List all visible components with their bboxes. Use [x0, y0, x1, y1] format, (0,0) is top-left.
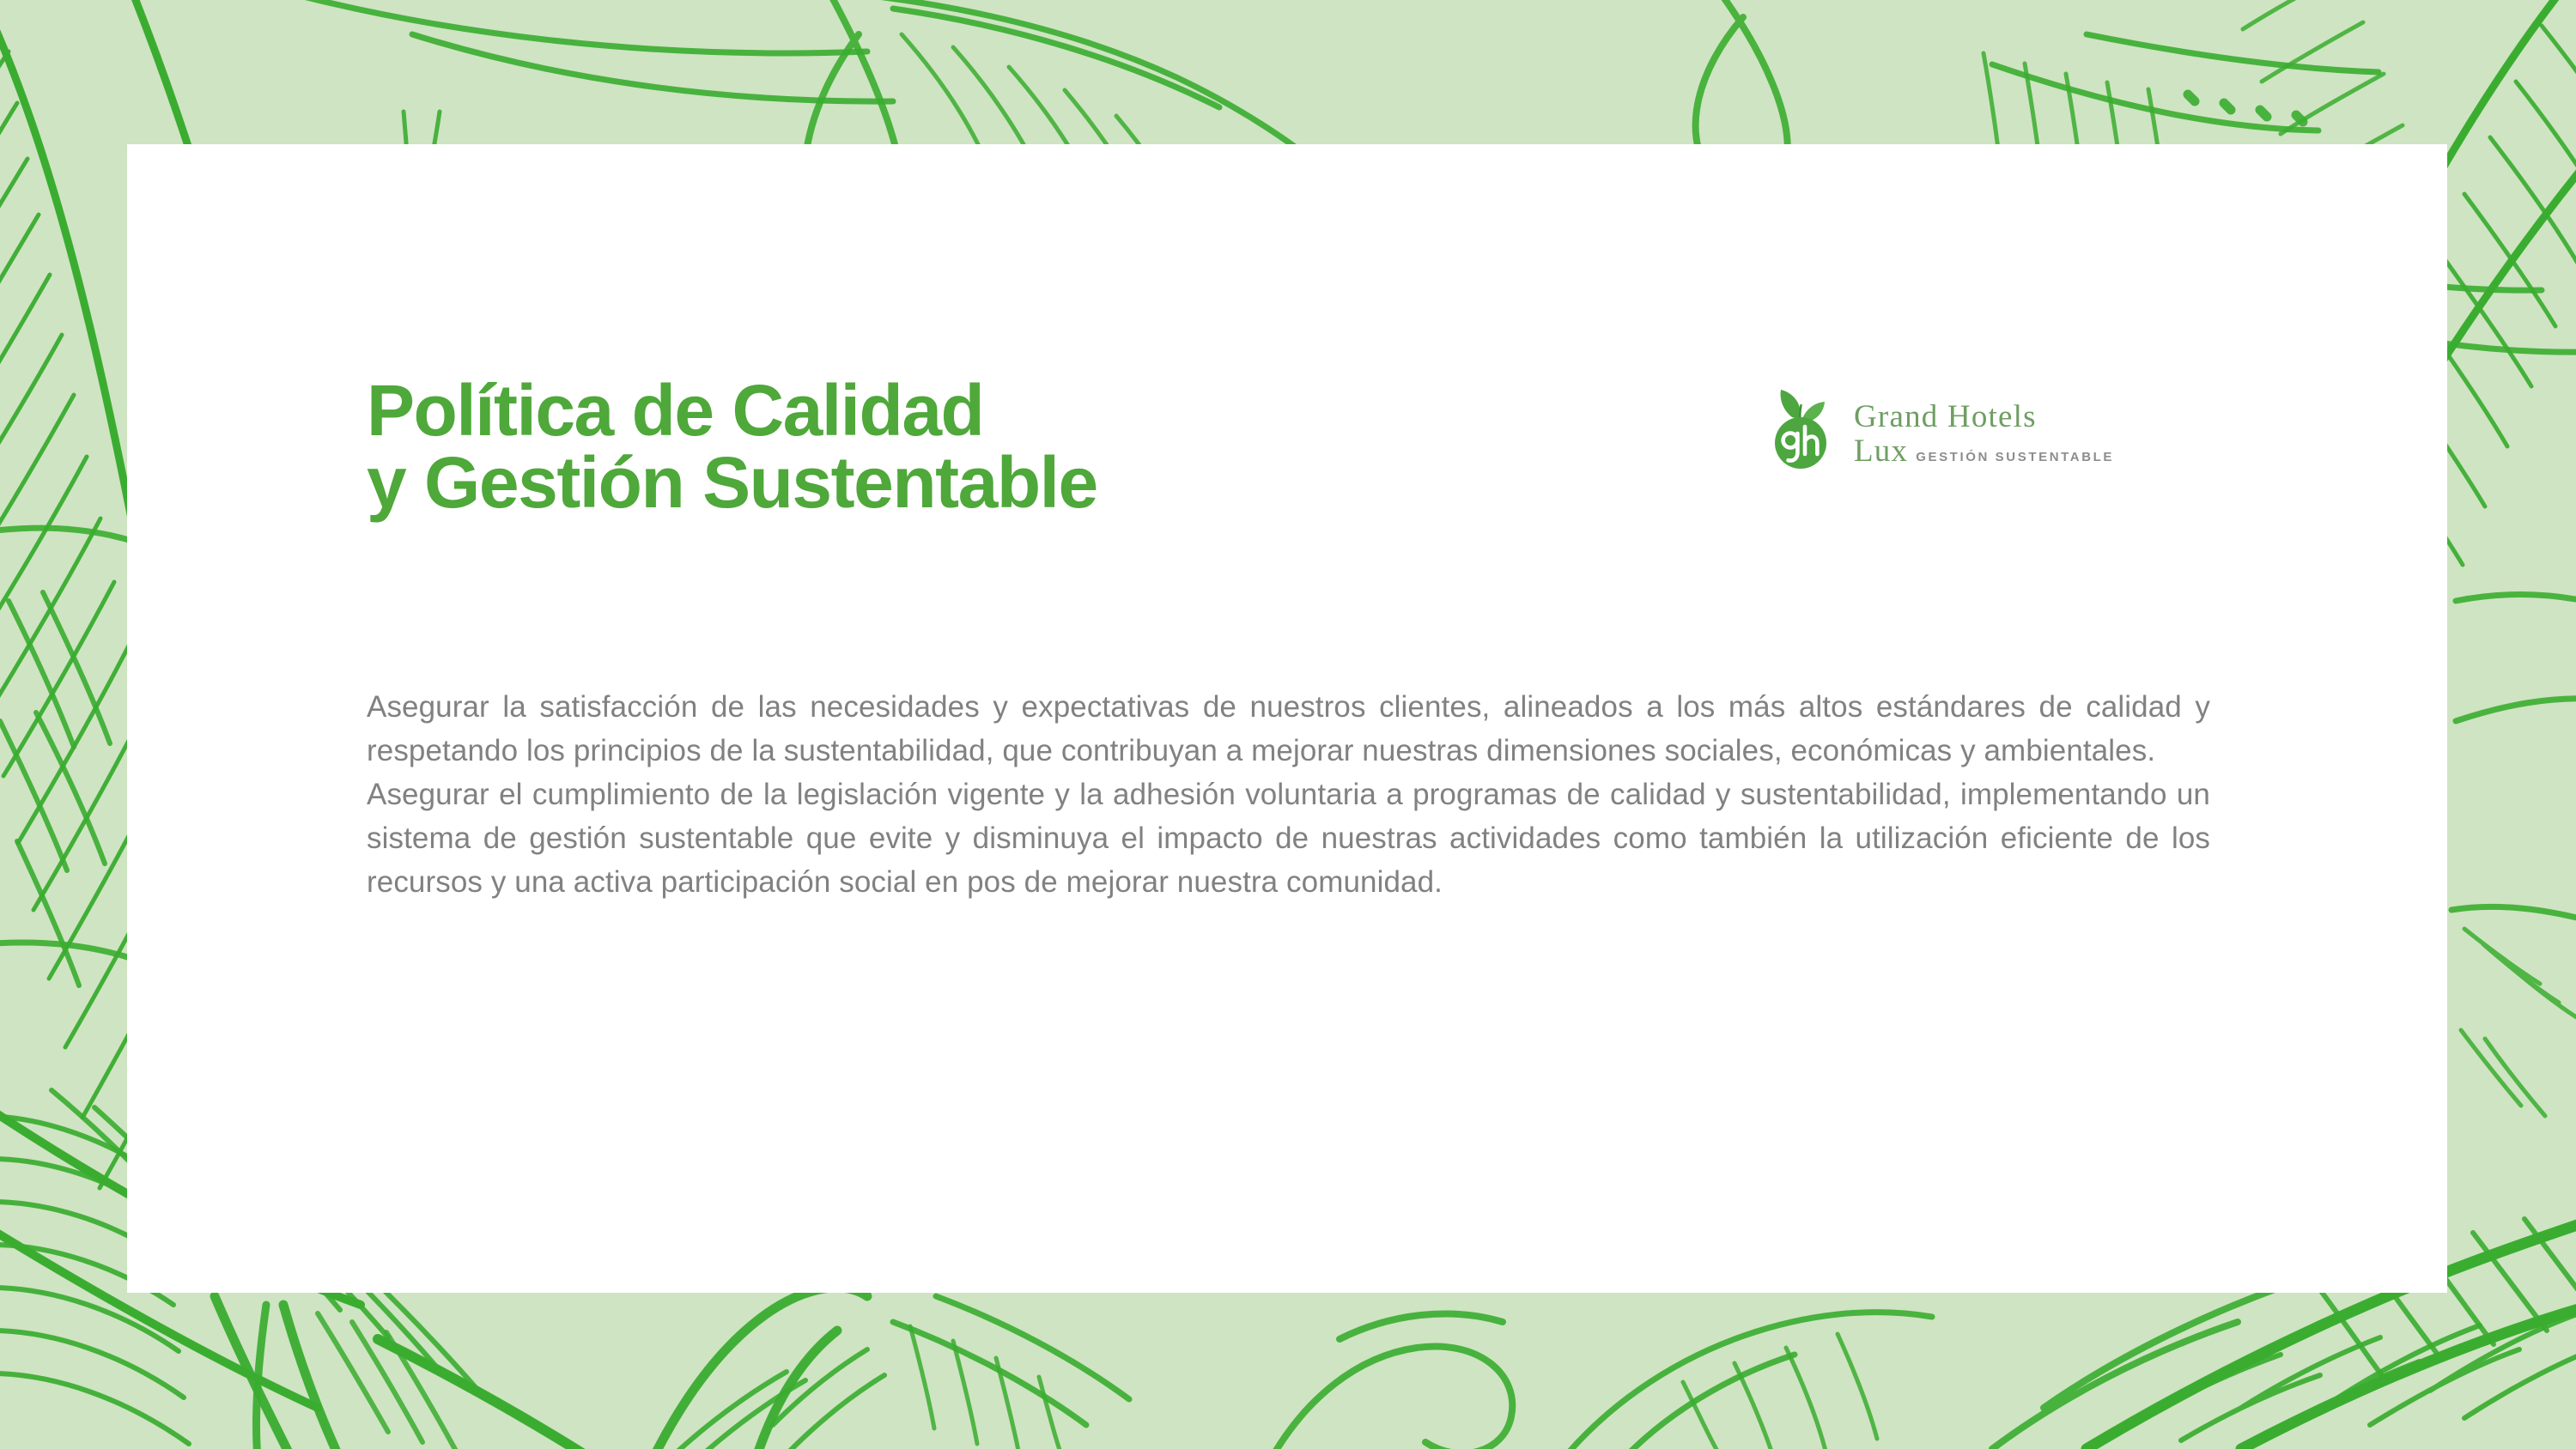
policy-body-text: Asegurar la satisfacción de las necesida… — [367, 685, 2210, 904]
page-title: Política de Calidad y Gestión Sustentabl… — [367, 374, 1097, 518]
brand-logo: Grand Hotels Lux GESTIÓN SUSTENTABLE — [1763, 380, 2106, 475]
slide-header: Política de Calidad y Gestión Sustentabl… — [127, 144, 2447, 505]
policy-paragraph: Asegurar el cumplimiento de la legislaci… — [367, 773, 2210, 904]
slide-canvas: Política de Calidad y Gestión Sustentabl… — [0, 0, 2576, 1449]
brand-tagline: GESTIÓN SUSTENTABLE — [1916, 450, 2114, 464]
brand-wordmark: Grand Hotels Lux GESTIÓN SUSTENTABLE — [1854, 389, 2114, 467]
brand-lux: Lux — [1854, 435, 1908, 467]
brand-name: Grand Hotels — [1854, 401, 2114, 433]
gh-leaf-circle-logo-icon — [1763, 385, 1842, 470]
brand-sub-row: Lux GESTIÓN SUSTENTABLE — [1854, 435, 2114, 467]
policy-paragraph: Asegurar la satisfacción de las necesida… — [367, 685, 2210, 773]
content-card: Política de Calidad y Gestión Sustentabl… — [127, 144, 2447, 1293]
